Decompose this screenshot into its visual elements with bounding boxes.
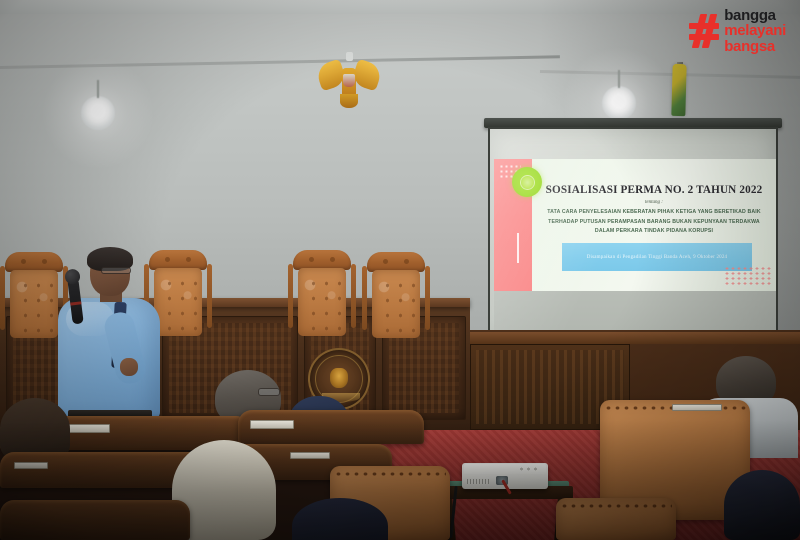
chair-tufting <box>15 275 53 333</box>
microphone-ring <box>70 301 81 305</box>
wooden-bench-row <box>0 500 190 540</box>
logo-wordmark: bangga melayani bangsa <box>724 8 786 54</box>
chair-tufting <box>303 273 341 331</box>
chair-post <box>207 264 212 328</box>
chair-crest <box>367 252 425 272</box>
chair-backrest <box>10 270 58 338</box>
slide-subtitle: tentang : <box>538 200 770 205</box>
projection-screen: SOSIALISASI PERMA NO. 2 TAHUN 2022 tenta… <box>488 118 778 336</box>
chair-crest <box>293 250 351 270</box>
slide-badge-inner <box>520 175 535 190</box>
audience-glasses <box>258 388 280 396</box>
bench-nameplate <box>250 420 294 429</box>
chair-tufting <box>377 275 415 333</box>
slide-body-text: TATA CARA PENYELESAIAN KEBERATAN PIHAK K… <box>536 208 772 237</box>
chair-tufting <box>159 273 197 331</box>
logo-line-1: bangga <box>724 8 786 23</box>
presenter-hand <box>120 358 138 376</box>
chair-studs <box>334 470 446 477</box>
chair-studs <box>560 502 672 509</box>
audience-member-foreground-left <box>0 398 70 460</box>
slide-body-line-3: DALAM PERKARA TINDAK PIDANA KORUPSI <box>536 227 772 237</box>
chair-post <box>0 266 5 330</box>
chair-post <box>351 264 356 328</box>
hashtag-icon <box>689 14 719 48</box>
projector-table <box>437 486 573 540</box>
leather-chair <box>556 498 676 540</box>
presentation-slide: SOSIALISASI PERMA NO. 2 TAHUN 2022 tenta… <box>494 159 776 291</box>
audience-member-right-front <box>724 470 800 540</box>
garuda-tail <box>340 94 358 108</box>
slide-title: SOSIALISASI PERMA NO. 2 TAHUN 2022 <box>538 184 770 196</box>
bench-nameplate <box>14 462 48 469</box>
screen-surface: SOSIALISASI PERMA NO. 2 TAHUN 2022 tenta… <box>488 127 778 336</box>
ceiling-lamp-left <box>81 96 115 130</box>
presenter-glasses <box>101 267 131 274</box>
chair-post <box>362 266 367 330</box>
judge-chair <box>370 252 422 338</box>
bench-nameplate <box>672 404 722 411</box>
garuda-shield <box>343 74 355 87</box>
chair-backrest <box>372 270 420 338</box>
ceiling-lamp-right <box>602 86 636 120</box>
slide-dot-pattern-corner <box>724 266 772 286</box>
chair-post <box>288 264 293 328</box>
slide-tick-mark <box>517 233 519 263</box>
garuda-pancasila-emblem <box>316 58 382 110</box>
slide-body-line-1: TATA CARA PENYELESAIAN KEBERATAN PIHAK K… <box>536 208 772 218</box>
logo-line-3: bangsa <box>724 39 786 54</box>
bench-nameplate <box>290 452 330 459</box>
logo-line-2: melayani <box>724 23 786 38</box>
bangga-melayani-bangsa-logo: bangga melayani bangsa <box>689 8 786 54</box>
ceiling-sensor <box>346 52 353 61</box>
slide-body-line-2: TERHADAP PUTUSAN PERAMPASAN BARANG BUKAN… <box>536 218 772 228</box>
projector-buttons[interactable] <box>518 466 540 472</box>
slide-banner-text: Disampaikan di Pengadilan Tinggi Banda A… <box>587 255 728 260</box>
bench-nameplate <box>66 424 110 433</box>
furled-flag <box>671 64 686 116</box>
judge-chair <box>296 250 348 336</box>
photo-scene: SOSIALISASI PERMA NO. 2 TAHUN 2022 tenta… <box>0 0 800 540</box>
judge-chair <box>8 252 60 338</box>
seal-core <box>330 368 348 388</box>
chair-post <box>425 266 430 330</box>
projector-vent <box>467 479 489 484</box>
right-rail <box>470 332 800 344</box>
chair-backrest <box>298 268 346 336</box>
